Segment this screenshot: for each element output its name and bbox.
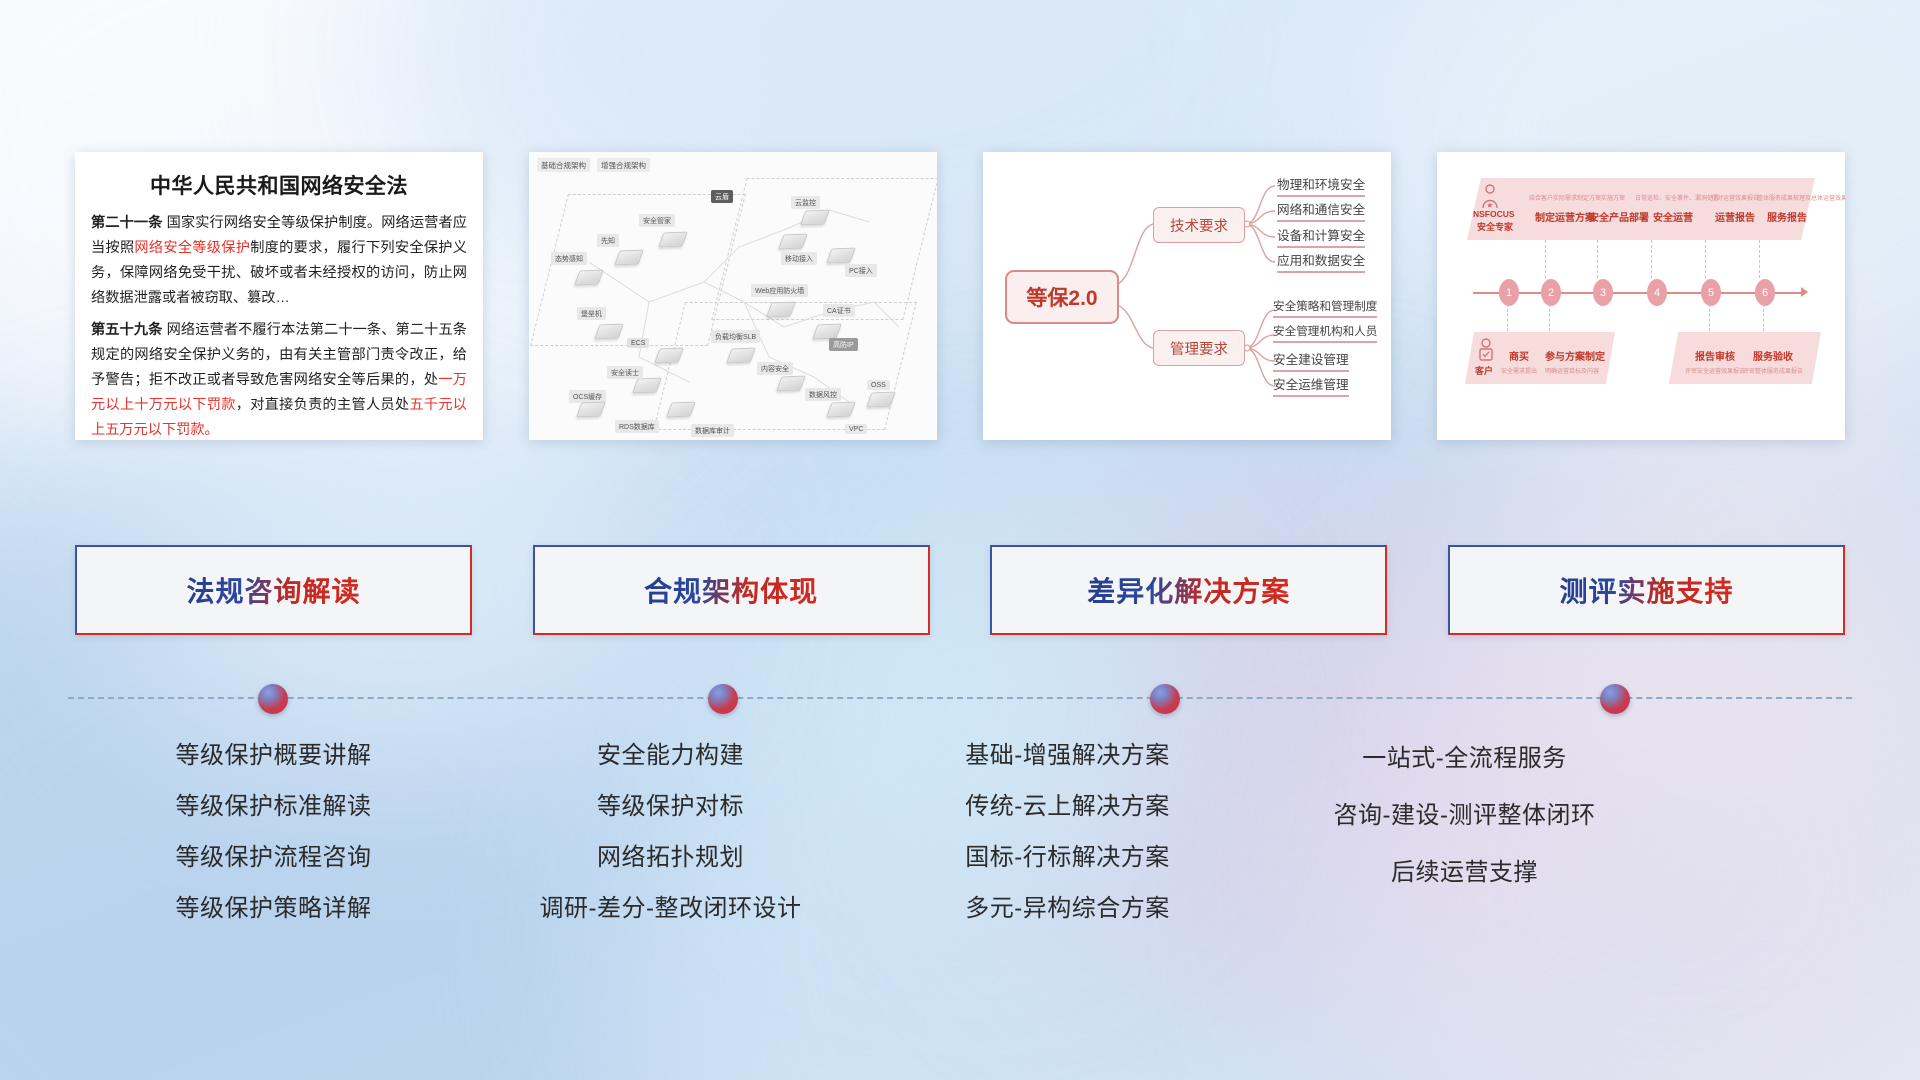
header-label-compliance-architecture: 合规架构体现 bbox=[644, 570, 818, 610]
nsfocus-top-label-3: 安全运营 bbox=[1653, 209, 1693, 224]
law-article-59-text-b: ，对直接负责的主管人员处 bbox=[236, 397, 410, 413]
architecture-node-mobile-access: 移动接入 bbox=[781, 252, 817, 265]
nsfocus-top-sub-5: 整体服务成果梳理及总体运营效果 bbox=[1757, 193, 1845, 202]
nsfocus-top-label-5: 服务报告 bbox=[1767, 209, 1807, 224]
card-cybersecurity-law: 中华人民共和国网络安全法 第二十一条 国家实行网络安全等级保护制度。网络运营者应… bbox=[75, 152, 483, 440]
architecture-node-content-safety: 内容安全 bbox=[757, 362, 793, 375]
list-item: 调研-差分-整改闭环设计 bbox=[540, 883, 802, 934]
architecture-node-bastion: 堡垒机 bbox=[577, 307, 606, 320]
architecture-node-oss: OSS bbox=[867, 380, 890, 390]
card-nsfocus-service-timeline: NSFOCUS 安全专家 结合客户实际需求制定方案 制定运营方案 实施方案 安全… bbox=[1437, 152, 1845, 440]
architecture-node-antiddos: 高防IP bbox=[829, 338, 858, 351]
timeline-arrow-icon bbox=[1801, 287, 1808, 297]
architecture-node-anqishi: 安全读士 bbox=[607, 366, 643, 379]
mindmap-branch-management: 管理要求 bbox=[1153, 330, 1245, 366]
expert-label-line1: NSFOCUS bbox=[1473, 209, 1515, 219]
nsfocus-bottom-sub-3: 评审安全运营效果报告 bbox=[1685, 366, 1745, 375]
header-box-regulation-consulting[interactable]: 法规咨询解读 bbox=[75, 545, 472, 635]
mindmap-leaf-mgmt-4: 安全运维管理 bbox=[1273, 374, 1349, 397]
nsfocus-top-label-4: 运营报告 bbox=[1715, 209, 1755, 224]
mindmap-leaf-tech-4: 应用和数据安全 bbox=[1277, 250, 1365, 273]
header-label-regulation-consulting: 法规咨询解读 bbox=[186, 570, 360, 610]
nsfocus-bottom-label-4: 服务验收 bbox=[1753, 348, 1793, 363]
timeline-step-2: 2 bbox=[1541, 279, 1561, 306]
mindmap-leaf-mgmt-2: 安全管理机构和人员 bbox=[1273, 323, 1377, 343]
mindmap-leaf-tech-1: 物理和环境安全 bbox=[1277, 174, 1365, 197]
nsfocus-bottom-sub-1: 安全需求提出 bbox=[1501, 366, 1537, 375]
list-item: 等级保护策略详解 bbox=[176, 883, 372, 934]
architecture-node-yundun: 云盾 bbox=[711, 190, 733, 203]
customer-person-icon bbox=[1477, 338, 1495, 362]
timeline-step-6: 6 bbox=[1755, 279, 1775, 306]
timeline-node-1[interactable] bbox=[258, 684, 288, 714]
law-article-21: 第二十一条 国家实行网络安全等级保护制度。网络运营者应当按照网络安全等级保护制度… bbox=[91, 211, 467, 311]
architecture-node-situational: 态势感知 bbox=[551, 252, 587, 265]
list-item: 等级保护流程咨询 bbox=[176, 832, 372, 883]
law-title: 中华人民共和国网络安全法 bbox=[91, 170, 467, 200]
service-list-compliance-architecture: 安全能力构建 等级保护对标 网络拓扑规划 调研-差分-整改闭环设计 bbox=[472, 730, 869, 934]
law-article-59: 第五十九条 网络运营者不履行本法第二十一条、第二十五条规定的网络安全保护义务的，… bbox=[91, 318, 467, 440]
list-item: 等级保护对标 bbox=[597, 781, 744, 832]
list-item: 网络拓扑规划 bbox=[597, 832, 744, 883]
nsfocus-top-sub-3: 日常巡检、安全事件、漏洞处置 bbox=[1635, 193, 1719, 202]
card-compliance-architecture: 基础合规架构 增强合规架构 bbox=[529, 152, 937, 440]
nsfocus-bottom-label-1: 商买 bbox=[1509, 348, 1529, 363]
list-item: 国标-行标解决方案 bbox=[965, 832, 1170, 883]
architecture-node-xianzhi: 先知 bbox=[597, 234, 619, 247]
list-item: 传统-云上解决方案 bbox=[965, 781, 1170, 832]
list-item: 安全能力构建 bbox=[597, 730, 744, 781]
nsfocus-top-sub-4: 针对运营效果报告 bbox=[1711, 193, 1759, 202]
progress-timeline bbox=[68, 697, 1852, 702]
list-item: 一站式-全流程服务 bbox=[1362, 730, 1567, 787]
nsfocus-bottom-sub-4: 评审整体服务成果报告 bbox=[1743, 366, 1803, 375]
architecture-node-db-audit: 数据库审计 bbox=[691, 424, 734, 437]
slide-page: 中华人民共和国网络安全法 第二十一条 国家实行网络安全等级保护制度。网络运营者应… bbox=[0, 0, 1920, 1080]
list-item: 等级保护概要讲解 bbox=[176, 730, 372, 781]
mindmap-leaf-tech-3: 设备和计算安全 bbox=[1277, 225, 1365, 248]
mindmap-leaf-tech-2: 网络和通信安全 bbox=[1277, 199, 1365, 222]
mindmap-leaf-mgmt-3: 安全建设管理 bbox=[1273, 349, 1349, 372]
header-box-evaluation-support[interactable]: 测评实施支持 bbox=[1448, 545, 1845, 635]
architecture-node-slb: 负载均衡SLB bbox=[711, 330, 760, 343]
timeline-step-4: 4 bbox=[1647, 279, 1667, 306]
list-item: 多元-异构综合方案 bbox=[965, 883, 1170, 934]
architecture-node-rds: RDS数据库 bbox=[615, 420, 659, 433]
nsfocus-top-sub-1: 结合客户实际需求制定方案 bbox=[1529, 193, 1601, 202]
list-item: 后续运营支撑 bbox=[1391, 844, 1538, 901]
timeline-axis bbox=[1473, 292, 1803, 294]
service-list-row: 等级保护概要讲解 等级保护标准解读 等级保护流程咨询 等级保护策略详解 安全能力… bbox=[0, 730, 1920, 934]
nsfocus-top-label-1: 制定运营方案 bbox=[1535, 209, 1595, 224]
architecture-node-riskcontrol: 数据风控 bbox=[805, 388, 841, 401]
architecture-node-waf: Web应用防火墙 bbox=[751, 284, 808, 297]
service-list-differentiated-solution: 基础-增强解决方案 传统-云上解决方案 国标-行标解决方案 多元-异构综合方案 bbox=[869, 730, 1266, 934]
service-list-regulation-consulting: 等级保护概要讲解 等级保护标准解读 等级保护流程咨询 等级保护策略详解 bbox=[75, 730, 472, 934]
customer-label: 客户 bbox=[1475, 364, 1493, 377]
timeline-node-2[interactable] bbox=[708, 684, 738, 714]
section-header-row: 法规咨询解读 合规架构体现 差异化解决方案 测评实施支持 bbox=[0, 545, 1920, 635]
list-item: 等级保护标准解读 bbox=[176, 781, 372, 832]
card-dengbao-mindmap: 等保2.0 技术要求 管理要求 物理和环境安全 网络和通信安全 设备和计算安全 … bbox=[983, 152, 1391, 440]
law-article-21-label: 第二十一条 bbox=[91, 215, 163, 231]
architecture-node-ecs-label: ECS bbox=[627, 338, 649, 348]
service-list-evaluation-support: 一站式-全流程服务 咨询-建设-测评整体闭环 后续运营支撑 bbox=[1266, 730, 1663, 934]
timeline-node-3[interactable] bbox=[1150, 684, 1180, 714]
law-article-59-label: 第五十九条 bbox=[91, 322, 163, 338]
mindmap-leaf-mgmt-1: 安全策略和管理制度 bbox=[1273, 298, 1377, 318]
header-label-evaluation-support: 测评实施支持 bbox=[1559, 570, 1733, 610]
expert-person-icon bbox=[1481, 184, 1499, 210]
nsfocus-top-label-2: 安全产品部署 bbox=[1589, 209, 1649, 224]
nsfocus-top-sub-2: 实施方案 bbox=[1601, 193, 1625, 202]
header-box-differentiated-solution[interactable]: 差异化解决方案 bbox=[990, 545, 1387, 635]
mindmap-branch-technical: 技术要求 bbox=[1153, 207, 1245, 243]
timeline-step-3: 3 bbox=[1593, 279, 1613, 306]
expert-label-line2: 安全专家 bbox=[1477, 220, 1513, 233]
header-label-differentiated-solution: 差异化解决方案 bbox=[1087, 570, 1290, 610]
mindmap-root: 等保2.0 bbox=[1005, 270, 1119, 324]
nsfocus-bottom-band-right bbox=[1669, 332, 1821, 384]
image-card-row: 中华人民共和国网络安全法 第二十一条 国家实行网络安全等级保护制度。网络运营者应… bbox=[0, 152, 1920, 440]
nsfocus-bottom-sub-2: 明确运营目标及内容 bbox=[1545, 366, 1599, 375]
architecture-node-ca: CA证书 bbox=[823, 304, 855, 317]
timeline-step-5: 5 bbox=[1701, 279, 1721, 306]
timeline-node-4[interactable] bbox=[1600, 684, 1630, 714]
list-item: 咨询-建设-测评整体闭环 bbox=[1334, 787, 1596, 844]
list-item: 基础-增强解决方案 bbox=[965, 730, 1170, 781]
nsfocus-bottom-label-3: 报告审核 bbox=[1695, 348, 1735, 363]
architecture-node-pc-access: PC接入 bbox=[845, 264, 877, 277]
law-article-21-highlight: 网络安全等级保护 bbox=[134, 240, 250, 256]
timeline-step-1: 1 bbox=[1499, 279, 1519, 306]
architecture-node-vpc: VPC bbox=[845, 424, 867, 434]
header-box-compliance-architecture[interactable]: 合规架构体现 bbox=[533, 545, 930, 635]
architecture-node-cloudmonitor: 云监控 bbox=[791, 196, 820, 209]
architecture-node-guanjia: 安全管家 bbox=[639, 214, 675, 227]
nsfocus-bottom-label-2: 参与方案制定 bbox=[1545, 348, 1605, 363]
